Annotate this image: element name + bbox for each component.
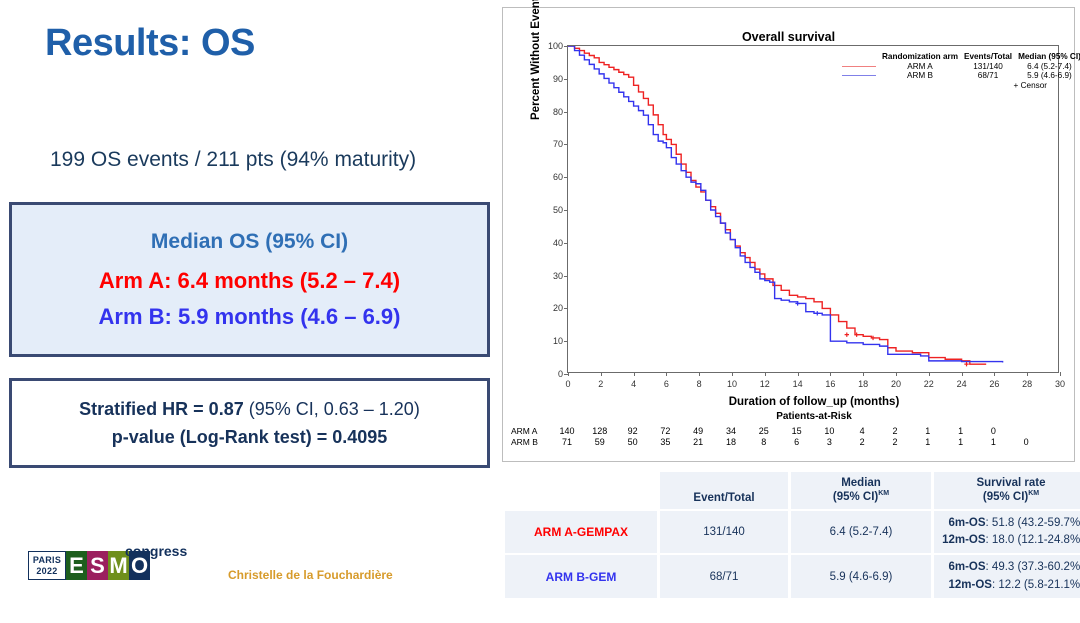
median-os-header: Median OS (95% CI) bbox=[12, 231, 487, 253]
col-header-median-sup: KM bbox=[878, 490, 889, 497]
arm-b-12m-os: 12m-OS: 12.2 (5.8-21.1%) bbox=[938, 577, 1080, 594]
arm-a-12m-label: 12m-OS bbox=[942, 534, 985, 546]
year-label: 2022 bbox=[36, 566, 57, 577]
patients-at-risk-value: 0 bbox=[1024, 437, 1029, 447]
y-tick-label: 20 bbox=[553, 303, 563, 313]
hazard-ratio-value: Stratified HR = 0.87 bbox=[79, 399, 249, 419]
os-events-summary: 199 OS events / 211 pts (94% maturity) bbox=[50, 148, 416, 172]
legend-median: 6.4 (5.2-7.4) bbox=[1015, 62, 1080, 71]
legend-body: ARM A131/1406.4 (5.2-7.4)ARM B68/715.9 (… bbox=[839, 62, 1080, 80]
legend-arm-name: ARM A bbox=[879, 62, 961, 71]
km-plot-area: Percent Without Event 010203040506070809… bbox=[567, 45, 1059, 373]
page-title: Results: OS bbox=[45, 22, 255, 65]
arm-b-6m-label: 6m-OS bbox=[948, 561, 985, 573]
y-tick-label: 80 bbox=[553, 107, 563, 117]
patients-at-risk-value: 92 bbox=[628, 426, 638, 436]
col-header-survival-sup: KM bbox=[1028, 490, 1039, 497]
x-tick-label: 26 bbox=[989, 379, 999, 389]
x-tick-label: 4 bbox=[631, 379, 636, 389]
paris-label: PARIS bbox=[33, 555, 61, 566]
hazard-ratio-line: Stratified HR = 0.87 (95% CI, 0.63 – 1.2… bbox=[79, 399, 420, 420]
patients-at-risk-table: ARM A1401289272493425151042110ARM B71595… bbox=[503, 426, 1063, 448]
patients-at-risk-value: 49 bbox=[693, 426, 703, 436]
patients-at-risk-title: Patients-at-Risk bbox=[568, 411, 1060, 422]
patients-at-risk-value: 1 bbox=[991, 437, 996, 447]
arm-b-median: 5.9 (4.6-6.9) bbox=[791, 555, 931, 598]
y-tick-label: 40 bbox=[553, 238, 563, 248]
legend-row: ARM A131/1406.4 (5.2-7.4) bbox=[839, 62, 1080, 71]
x-tick-label: 2 bbox=[598, 379, 603, 389]
results-summary-table: Event/Total Median (95% CI)KM Survival r… bbox=[502, 470, 1080, 600]
km-curves bbox=[568, 46, 1060, 374]
patients-at-risk-value: 25 bbox=[759, 426, 769, 436]
y-axis-label: Percent Without Event bbox=[530, 0, 542, 120]
legend-arm-name: ARM B bbox=[879, 71, 961, 80]
x-tick-label: 28 bbox=[1022, 379, 1032, 389]
col-header-median-line2: (95% CI)KM bbox=[795, 490, 927, 504]
patients-at-risk-value: 72 bbox=[660, 426, 670, 436]
patients-at-risk-value: 71 bbox=[562, 437, 572, 447]
patients-at-risk-value: 34 bbox=[726, 426, 736, 436]
table-row: ARM A-GEMPAX 131/140 6.4 (5.2-7.4) 6m-OS… bbox=[505, 511, 1080, 554]
x-tick-label: 20 bbox=[891, 379, 901, 389]
x-tick-mark bbox=[1060, 372, 1061, 376]
chart-title: Overall survival bbox=[503, 30, 1074, 44]
x-tick-label: 22 bbox=[924, 379, 934, 389]
esmo-letter-e: E bbox=[66, 551, 87, 580]
hazard-ratio-ci: (95% CI, 0.63 – 1.20) bbox=[249, 399, 420, 419]
arm-a-event-total: 131/140 bbox=[660, 511, 788, 554]
patients-at-risk-value: 140 bbox=[559, 426, 574, 436]
censor-mark bbox=[845, 332, 849, 336]
legend-header-events: Events/Total bbox=[961, 52, 1015, 62]
patients-at-risk-value: 0 bbox=[991, 426, 996, 436]
arm-b-12m-label: 12m-OS bbox=[948, 579, 991, 591]
patients-at-risk-value: 1 bbox=[958, 426, 963, 436]
censor-mark bbox=[964, 362, 968, 366]
arm-a-survival-rate: 6m-OS: 51.8 (43.2-59.7%) 12m-OS: 18.0 (1… bbox=[934, 511, 1080, 554]
table-header-row: Event/Total Median (95% CI)KM Survival r… bbox=[505, 472, 1080, 509]
patients-at-risk-value: 21 bbox=[693, 437, 703, 447]
patients-at-risk-value: 1 bbox=[925, 426, 930, 436]
col-header-survival-line2: (95% CI)KM bbox=[938, 490, 1080, 504]
col-header-median: Median (95% CI)KM bbox=[791, 472, 931, 509]
row-label-arm-b: ARM B-GEM bbox=[505, 555, 657, 598]
legend-row: ARM B68/715.9 (4.6-6.9) bbox=[839, 71, 1080, 80]
legend-median: 5.9 (4.6-6.9) bbox=[1015, 71, 1080, 80]
patients-at-risk-value: 2 bbox=[860, 437, 865, 447]
km-curve-arm-b bbox=[568, 46, 1003, 363]
pvalue-line: p-value (Log-Rank test) = 0.4095 bbox=[112, 427, 388, 448]
patients-at-risk-value: 2 bbox=[892, 437, 897, 447]
legend-events-total: 68/71 bbox=[961, 71, 1015, 80]
legend-events-total: 131/140 bbox=[961, 62, 1015, 71]
arm-a-median-value: Arm A: 6.4 months (5.2 – 7.4) bbox=[12, 269, 487, 292]
arm-b-survival-rate: 6m-OS: 49.3 (37.3-60.2%) 12m-OS: 12.2 (5… bbox=[934, 555, 1080, 598]
patients-at-risk-value: 59 bbox=[595, 437, 605, 447]
y-tick-label: 100 bbox=[548, 41, 563, 51]
table-corner-cell bbox=[505, 472, 657, 509]
censor-mark bbox=[815, 311, 819, 315]
arm-a-12m-value: : 18.0 (12.1-24.8%) bbox=[986, 534, 1080, 546]
legend-table: Randomization arm Events/Total Median (9… bbox=[839, 52, 1080, 80]
x-tick-label: 12 bbox=[760, 379, 770, 389]
y-tick-label: 50 bbox=[553, 205, 563, 215]
presenter-name: Christelle de la Fouchardière bbox=[228, 568, 393, 582]
km-curve-arm-a bbox=[568, 46, 986, 364]
x-tick-label: 30 bbox=[1055, 379, 1065, 389]
overall-survival-chart: Overall survival Percent Without Event 0… bbox=[502, 7, 1075, 462]
slide-footer: PARIS 2022 E S M O congress Christelle d… bbox=[0, 540, 500, 600]
col-header-event-total: Event/Total bbox=[660, 472, 788, 509]
legend-header-arm: Randomization arm bbox=[879, 52, 961, 62]
arm-a-median: 6.4 (5.2-7.4) bbox=[791, 511, 931, 554]
col-header-median-ci: (95% CI) bbox=[833, 491, 878, 503]
patients-at-risk-row: ARM A1401289272493425151042110 bbox=[503, 426, 1063, 437]
patients-at-risk-value: 15 bbox=[792, 426, 802, 436]
patients-at-risk-value: 8 bbox=[761, 437, 766, 447]
y-tick-label: 30 bbox=[553, 271, 563, 281]
y-tick-label: 60 bbox=[553, 172, 563, 182]
legend-line-icon bbox=[842, 66, 876, 67]
patients-at-risk-value: 18 bbox=[726, 437, 736, 447]
patients-at-risk-value: 1 bbox=[925, 437, 930, 447]
esmo-letter-s: S bbox=[87, 551, 108, 580]
patients-at-risk-value: 50 bbox=[628, 437, 638, 447]
x-tick-label: 0 bbox=[565, 379, 570, 389]
patients-at-risk-value: 6 bbox=[794, 437, 799, 447]
patients-at-risk-row-label: ARM B bbox=[511, 437, 538, 447]
x-axis-label: Duration of follow_up (months) bbox=[568, 396, 1060, 408]
y-tick-label: 0 bbox=[558, 369, 563, 379]
x-tick-label: 6 bbox=[664, 379, 669, 389]
arm-b-12m-value: : 12.2 (5.8-21.1%) bbox=[992, 579, 1080, 591]
y-tick-label: 10 bbox=[553, 336, 563, 346]
patients-at-risk-value: 10 bbox=[824, 426, 834, 436]
patients-at-risk-value: 2 bbox=[892, 426, 897, 436]
congress-label: congress bbox=[125, 543, 187, 559]
patients-at-risk-value: 3 bbox=[827, 437, 832, 447]
col-header-median-line1: Median bbox=[795, 476, 927, 490]
patients-at-risk-value: 1 bbox=[958, 437, 963, 447]
patients-at-risk-value: 128 bbox=[592, 426, 607, 436]
x-tick-label: 10 bbox=[727, 379, 737, 389]
arm-a-6m-os: 6m-OS: 51.8 (43.2-59.7%) bbox=[938, 515, 1080, 532]
y-tick-label: 70 bbox=[553, 139, 563, 149]
x-tick-label: 18 bbox=[858, 379, 868, 389]
paris-2022-badge: PARIS 2022 bbox=[28, 551, 66, 580]
arm-b-6m-os: 6m-OS: 49.3 (37.3-60.2%) bbox=[938, 559, 1080, 576]
legend-header-median: Median (95% CI) bbox=[1015, 52, 1080, 62]
legend-color-swatch bbox=[839, 62, 879, 71]
patients-at-risk-value: 35 bbox=[660, 437, 670, 447]
row-label-arm-a: ARM A-GEMPAX bbox=[505, 511, 657, 554]
arm-a-12m-os: 12m-OS: 18.0 (12.1-24.8%) bbox=[938, 532, 1080, 549]
chart-legend: Randomization arm Events/Total Median (9… bbox=[839, 52, 1053, 90]
table-row: ARM B-GEM 68/71 5.9 (4.6-6.9) 6m-OS: 49.… bbox=[505, 555, 1080, 598]
arm-a-6m-value: : 51.8 (43.2-59.7%) bbox=[986, 517, 1080, 529]
patients-at-risk-row: ARM B715950352118863221110 bbox=[503, 437, 1063, 448]
y-tick-label: 90 bbox=[553, 74, 563, 84]
col-header-survival-rate: Survival rate (95% CI)KM bbox=[934, 472, 1080, 509]
legend-line-icon bbox=[842, 75, 876, 76]
arm-b-median-value: Arm B: 5.9 months (4.6 – 6.9) bbox=[12, 305, 487, 328]
legend-censor-note: + Censor bbox=[839, 80, 1053, 90]
legend-color-swatch bbox=[839, 71, 879, 80]
patients-at-risk-row-label: ARM A bbox=[511, 426, 537, 436]
hazard-ratio-panel: Stratified HR = 0.87 (95% CI, 0.63 – 1.2… bbox=[9, 378, 490, 468]
median-os-panel: Median OS (95% CI) Arm A: 6.4 months (5.… bbox=[9, 202, 490, 357]
x-tick-label: 16 bbox=[825, 379, 835, 389]
col-header-survival-ci: (95% CI) bbox=[983, 491, 1028, 503]
arm-a-6m-label: 6m-OS bbox=[948, 517, 985, 529]
legend-swatch-header bbox=[839, 52, 879, 62]
col-header-survival-line1: Survival rate bbox=[938, 476, 1080, 490]
arm-b-event-total: 68/71 bbox=[660, 555, 788, 598]
arm-b-6m-value: : 49.3 (37.3-60.2%) bbox=[986, 561, 1080, 573]
x-tick-label: 24 bbox=[957, 379, 967, 389]
patients-at-risk-value: 4 bbox=[860, 426, 865, 436]
x-tick-label: 14 bbox=[793, 379, 803, 389]
x-tick-label: 8 bbox=[697, 379, 702, 389]
